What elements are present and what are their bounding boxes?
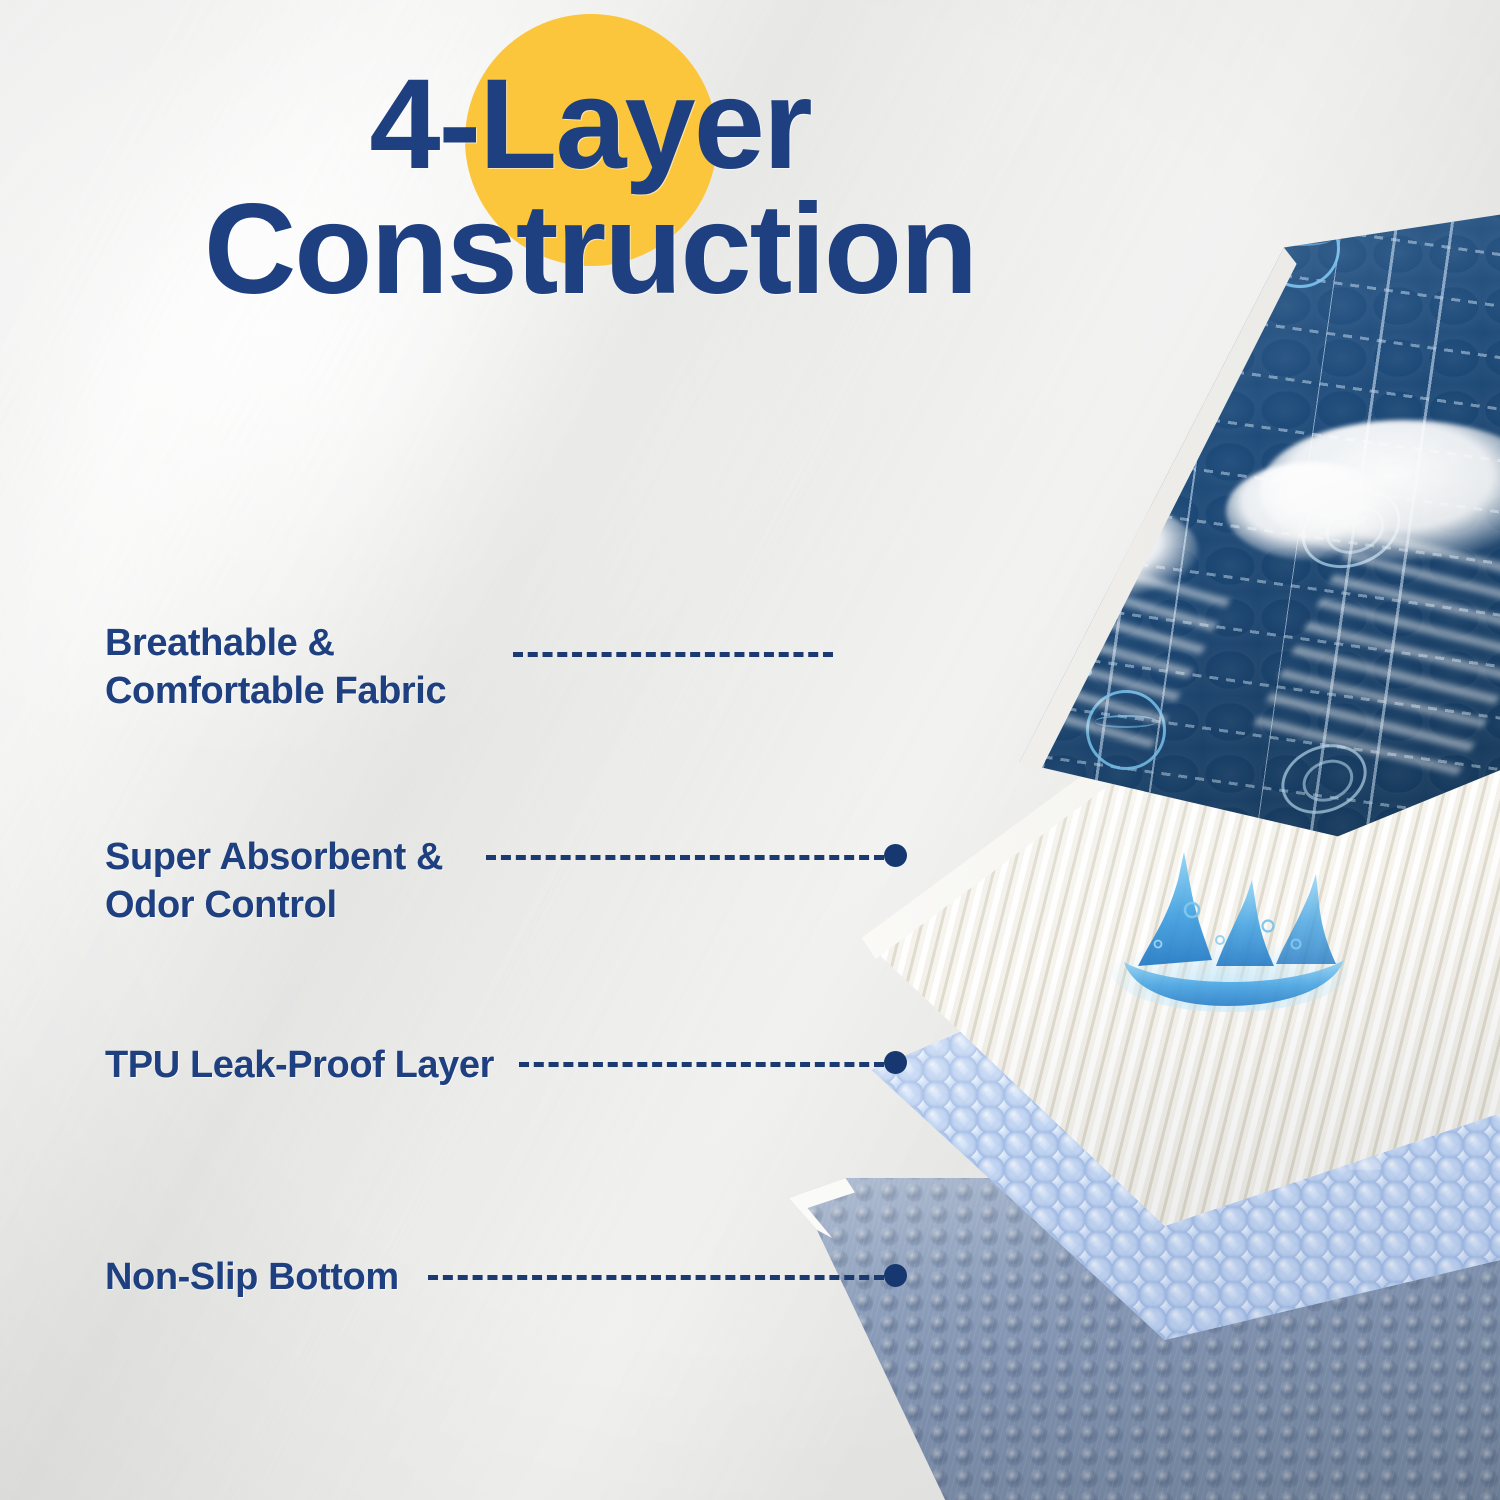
infographic-canvas: 4-Layer Construction Breathable & Comfor… <box>0 0 1500 1500</box>
leader-line-breathable-fabric <box>513 652 833 657</box>
layer-label-super-absorbent: Super Absorbent & Odor Control <box>105 834 443 929</box>
leader-line-tpu-leak-proof <box>519 1062 884 1067</box>
layer-label-breathable-fabric: Breathable & Comfortable Fabric <box>105 620 446 715</box>
page-title: 4-Layer Construction <box>0 62 1180 313</box>
layer-label-non-slip-bottom: Non-Slip Bottom <box>105 1254 399 1302</box>
leader-endpoint-dot <box>884 1051 907 1074</box>
leader-endpoint-dot <box>884 844 907 867</box>
leader-line-non-slip-bottom <box>428 1275 884 1280</box>
layer-label-tpu-leak-proof: TPU Leak-Proof Layer <box>105 1042 494 1090</box>
leader-line-super-absorbent <box>486 855 884 860</box>
leader-endpoint-dot <box>884 1264 907 1287</box>
